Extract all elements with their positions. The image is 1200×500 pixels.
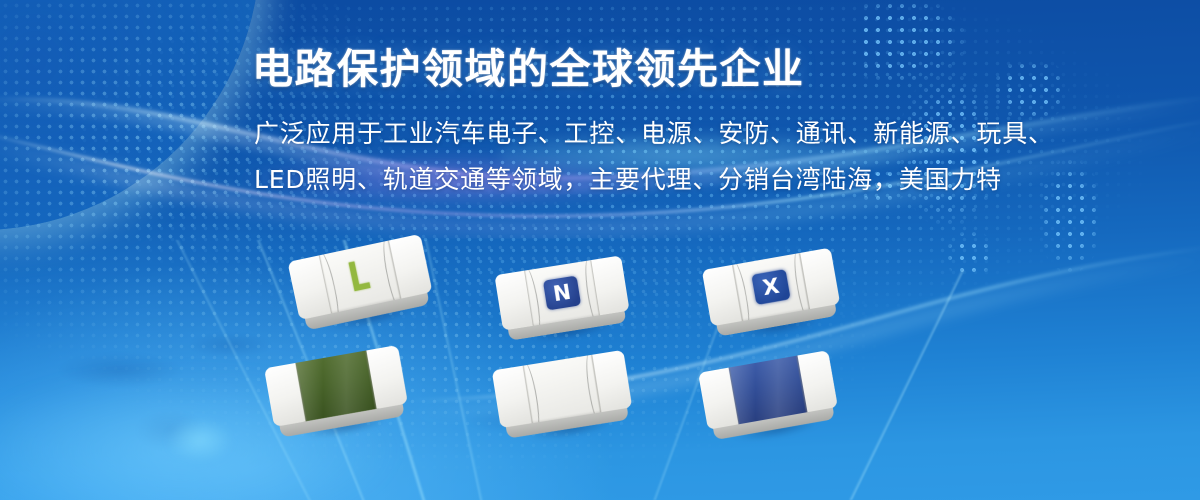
- product-chip-x: X: [702, 248, 840, 327]
- product-chip-l: L: [287, 234, 432, 320]
- chip-logo-badge: N: [543, 276, 581, 311]
- product-chip-green-body: [264, 345, 408, 427]
- product-chip-n: N: [494, 255, 629, 330]
- hero-banner: 电路保护领域的全球领先企业 广泛应用于工业汽车电子、工控、电源、安防、通讯、新能…: [0, 0, 1200, 500]
- product-image-group: L N: [0, 0, 1200, 500]
- chip-logo-badge: X: [751, 269, 790, 305]
- product-chip-plain: [492, 350, 633, 428]
- chip-marking-letter: L: [345, 255, 373, 299]
- chip-logo-glyph: X: [761, 275, 781, 299]
- product-chip-blue-body: [698, 350, 838, 430]
- chip-logo-glyph: N: [552, 281, 573, 304]
